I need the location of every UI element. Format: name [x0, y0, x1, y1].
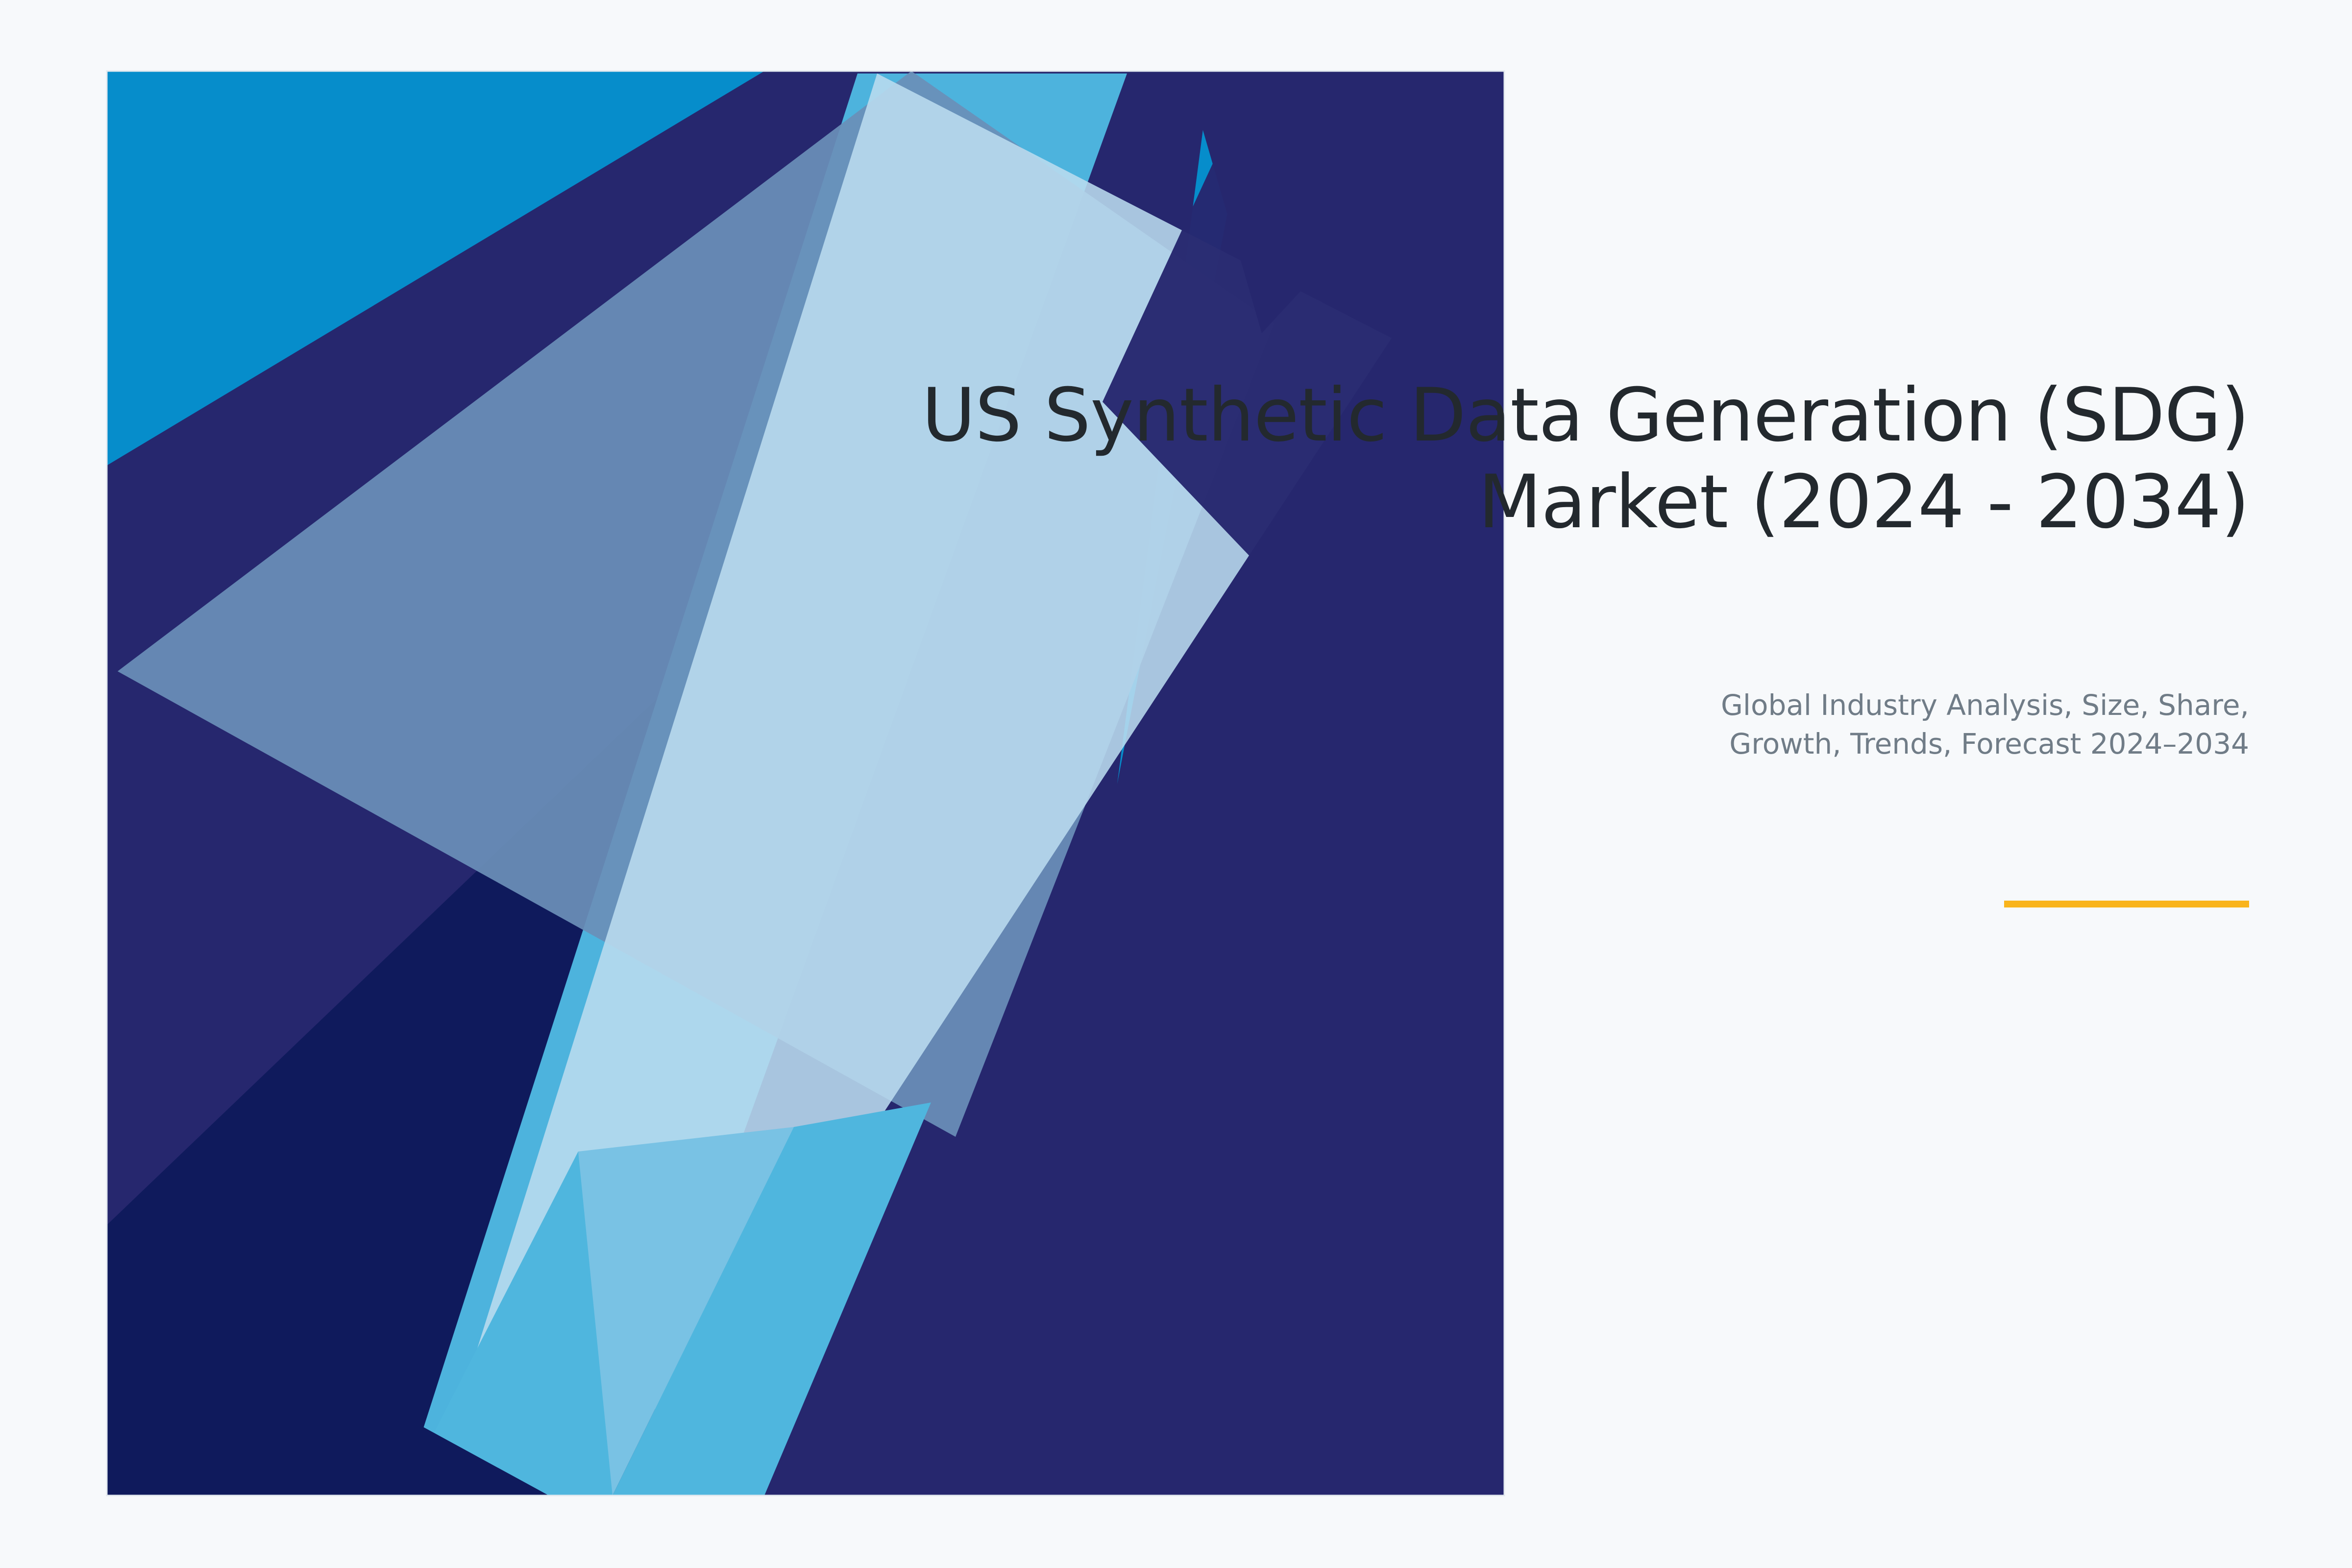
page-subtitle: Global Industry Analysis, Size, Share, G…: [1612, 686, 2249, 763]
shape-light-cyan-lower-left: [402, 1151, 701, 1495]
shape-cyan-base: [107, 71, 1504, 1495]
shape-light-cyan-lower-right: [612, 1102, 931, 1495]
shape-navy-left-wedge: [107, 71, 1504, 1495]
title-accent-underline: [2004, 901, 2249, 907]
shape-pale-blue-band: [431, 73, 1392, 1495]
shape-sky-blue-vee: [578, 1127, 794, 1495]
shape-slate-blue-overlay: [118, 71, 1274, 1137]
shape-navy-top-right-triangle: [1186, 71, 1504, 333]
cover-text-block: US Synthetic Data Generation (SDG) Marke…: [833, 372, 2249, 546]
page-title: US Synthetic Data Generation (SDG) Marke…: [833, 372, 2249, 546]
shape-deep-navy-spike: [107, 657, 701, 1495]
shape-navy-field: [107, 71, 1504, 1495]
report-cover-page: US Synthetic Data Generation (SDG) Marke…: [0, 0, 2352, 1568]
shape-deep-navy-bottom: [107, 1254, 549, 1495]
abstract-geometric-graphic: [0, 0, 2352, 1568]
shape-sky-blue-band: [402, 73, 1127, 1495]
panel-border: [107, 71, 1504, 1495]
